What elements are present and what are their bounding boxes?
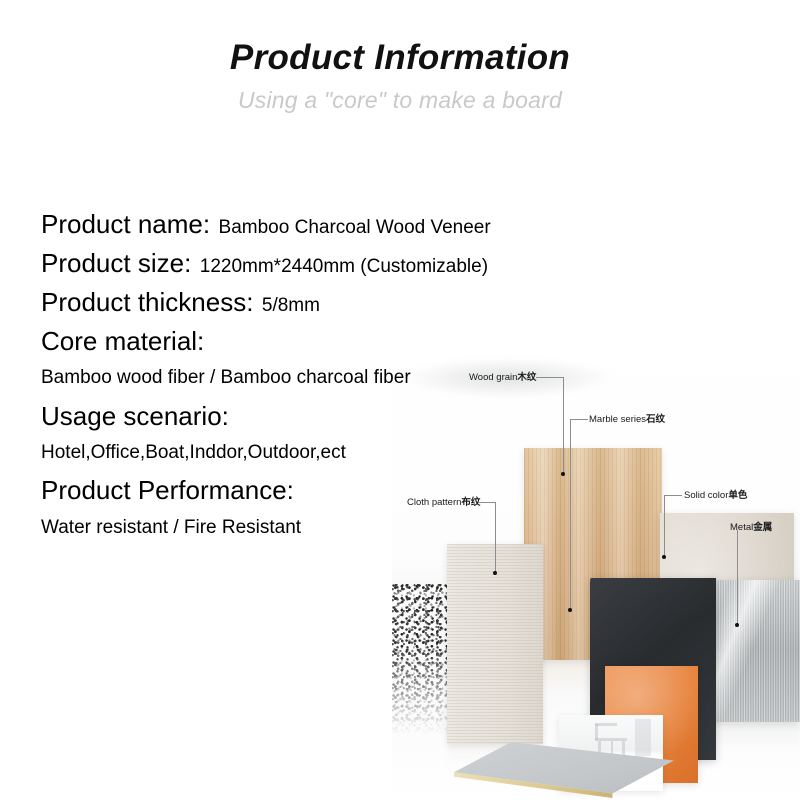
callout-label-cn: 石纹 (646, 414, 665, 425)
product-spec-list: Product name: Bamboo Charcoal Wood Venee… (41, 206, 601, 547)
spec-value: 1220mm*2440mm (Customizable) (196, 256, 488, 277)
panel-sample-lying-board (454, 742, 674, 798)
spec-value: Bamboo Charcoal Wood Veneer (215, 217, 491, 238)
spec-row-usage-scenario: Usage scenario: Hotel,Office,Boat,Inddor… (41, 398, 601, 472)
spec-label: Product Performance: (41, 472, 601, 510)
spec-row-product-name: Product name: Bamboo Charcoal Wood Venee… (41, 206, 601, 243)
leader-line-solid-color (664, 495, 682, 496)
spec-row-product-size: Product size: 1220mm*2440mm (Customizabl… (41, 245, 601, 282)
spec-value: 5/8mm (258, 295, 320, 316)
spec-label: Product name: (41, 209, 210, 239)
spec-value: Water resistant / Fire Resistant (41, 510, 601, 546)
leader-line-metal (737, 530, 738, 625)
spec-value: Hotel,Office,Boat,Inddor,Outdoor,ect (41, 435, 601, 471)
spec-label: Product size: (41, 248, 191, 278)
page-title: Product Information (0, 38, 800, 78)
reflection-chair-backrest (595, 723, 617, 726)
spec-label: Core material: (41, 323, 601, 361)
callout-label-cn: 金属 (753, 522, 772, 533)
spec-value: Bamboo wood fiber / Bamboo charcoal fibe… (41, 360, 601, 396)
callout-dot-solid-color (662, 555, 666, 559)
page-subtitle: Using a "core" to make a board (0, 87, 800, 113)
callout-label-en: Metal (730, 522, 753, 533)
callout-solid-color: Solid color单色 (684, 490, 747, 501)
callout-dot-marble (568, 608, 572, 612)
spec-row-core-material: Core material: Bamboo wood fiber / Bambo… (41, 323, 601, 397)
spec-label: Usage scenario: (41, 398, 601, 436)
spec-row-product-performance: Product Performance: Water resistant / F… (41, 472, 601, 546)
callout-dot-cloth-pattern (493, 571, 497, 575)
page-header: Product Information Using a "core" to ma… (0, 38, 800, 114)
spec-label: Product thickness: (41, 287, 253, 317)
spec-row-product-thickness: Product thickness: 5/8mm (41, 284, 601, 321)
callout-label-en: Solid color (684, 490, 728, 501)
panel-sample-metal (704, 580, 800, 722)
floor-reflection (704, 722, 800, 752)
leader-line-solid-color (664, 495, 665, 557)
callout-dot-metal (735, 623, 739, 627)
callout-label-cn: 单色 (728, 490, 747, 501)
